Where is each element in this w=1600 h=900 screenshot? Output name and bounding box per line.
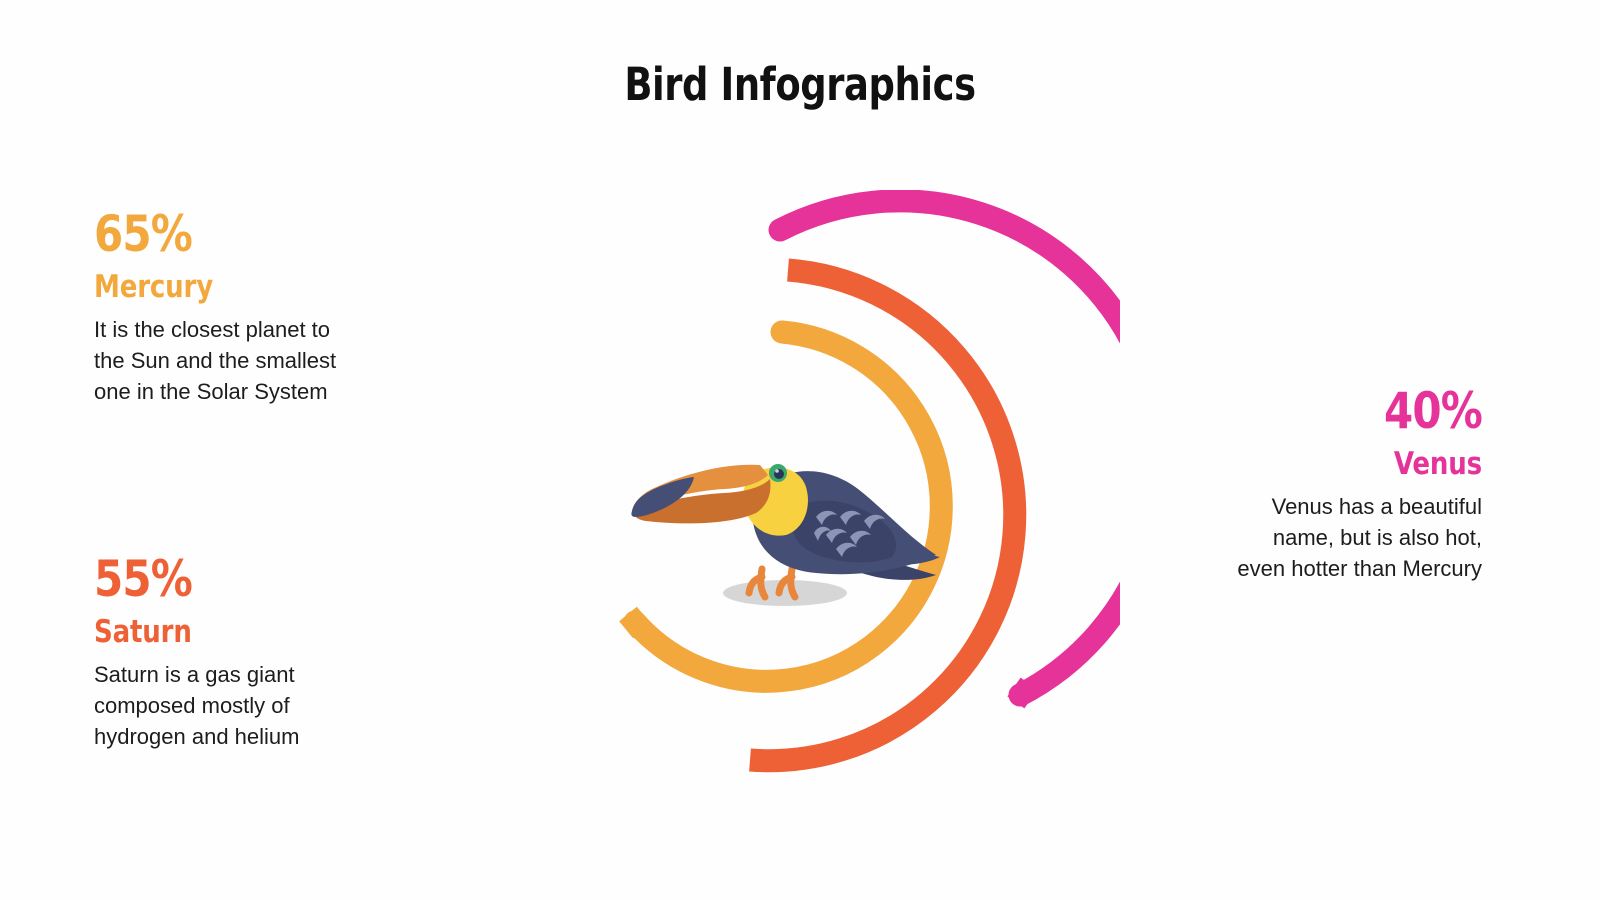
stat-description-mercury: It is the closest planet to the Sun and … — [94, 314, 434, 408]
page-title: Bird Infographics — [144, 58, 1456, 111]
arc-venus-endcap — [1014, 687, 1031, 699]
stat-description-venus: Venus has a beautiful name, but is also … — [1142, 491, 1482, 585]
stat-block-mercury: 65% Mercury It is the closest planet to … — [94, 208, 434, 407]
stat-name-saturn: Saturn — [94, 615, 380, 649]
stat-percent-mercury: 65% — [94, 208, 380, 261]
stat-block-saturn: 55% Saturn Saturn is a gas giant compose… — [94, 553, 434, 752]
stat-percent-saturn: 55% — [94, 553, 380, 606]
stat-percent-venus: 40% — [1196, 385, 1482, 438]
stat-name-venus: Venus — [1196, 447, 1482, 481]
stat-block-venus: 40% Venus Venus has a beautiful name, bu… — [1142, 385, 1482, 584]
stat-description-saturn: Saturn is a gas giant composed mostly of… — [94, 659, 434, 753]
bird-eye-highlight — [775, 469, 779, 473]
toucan-illustration — [620, 425, 960, 625]
stat-name-mercury: Mercury — [94, 270, 380, 304]
